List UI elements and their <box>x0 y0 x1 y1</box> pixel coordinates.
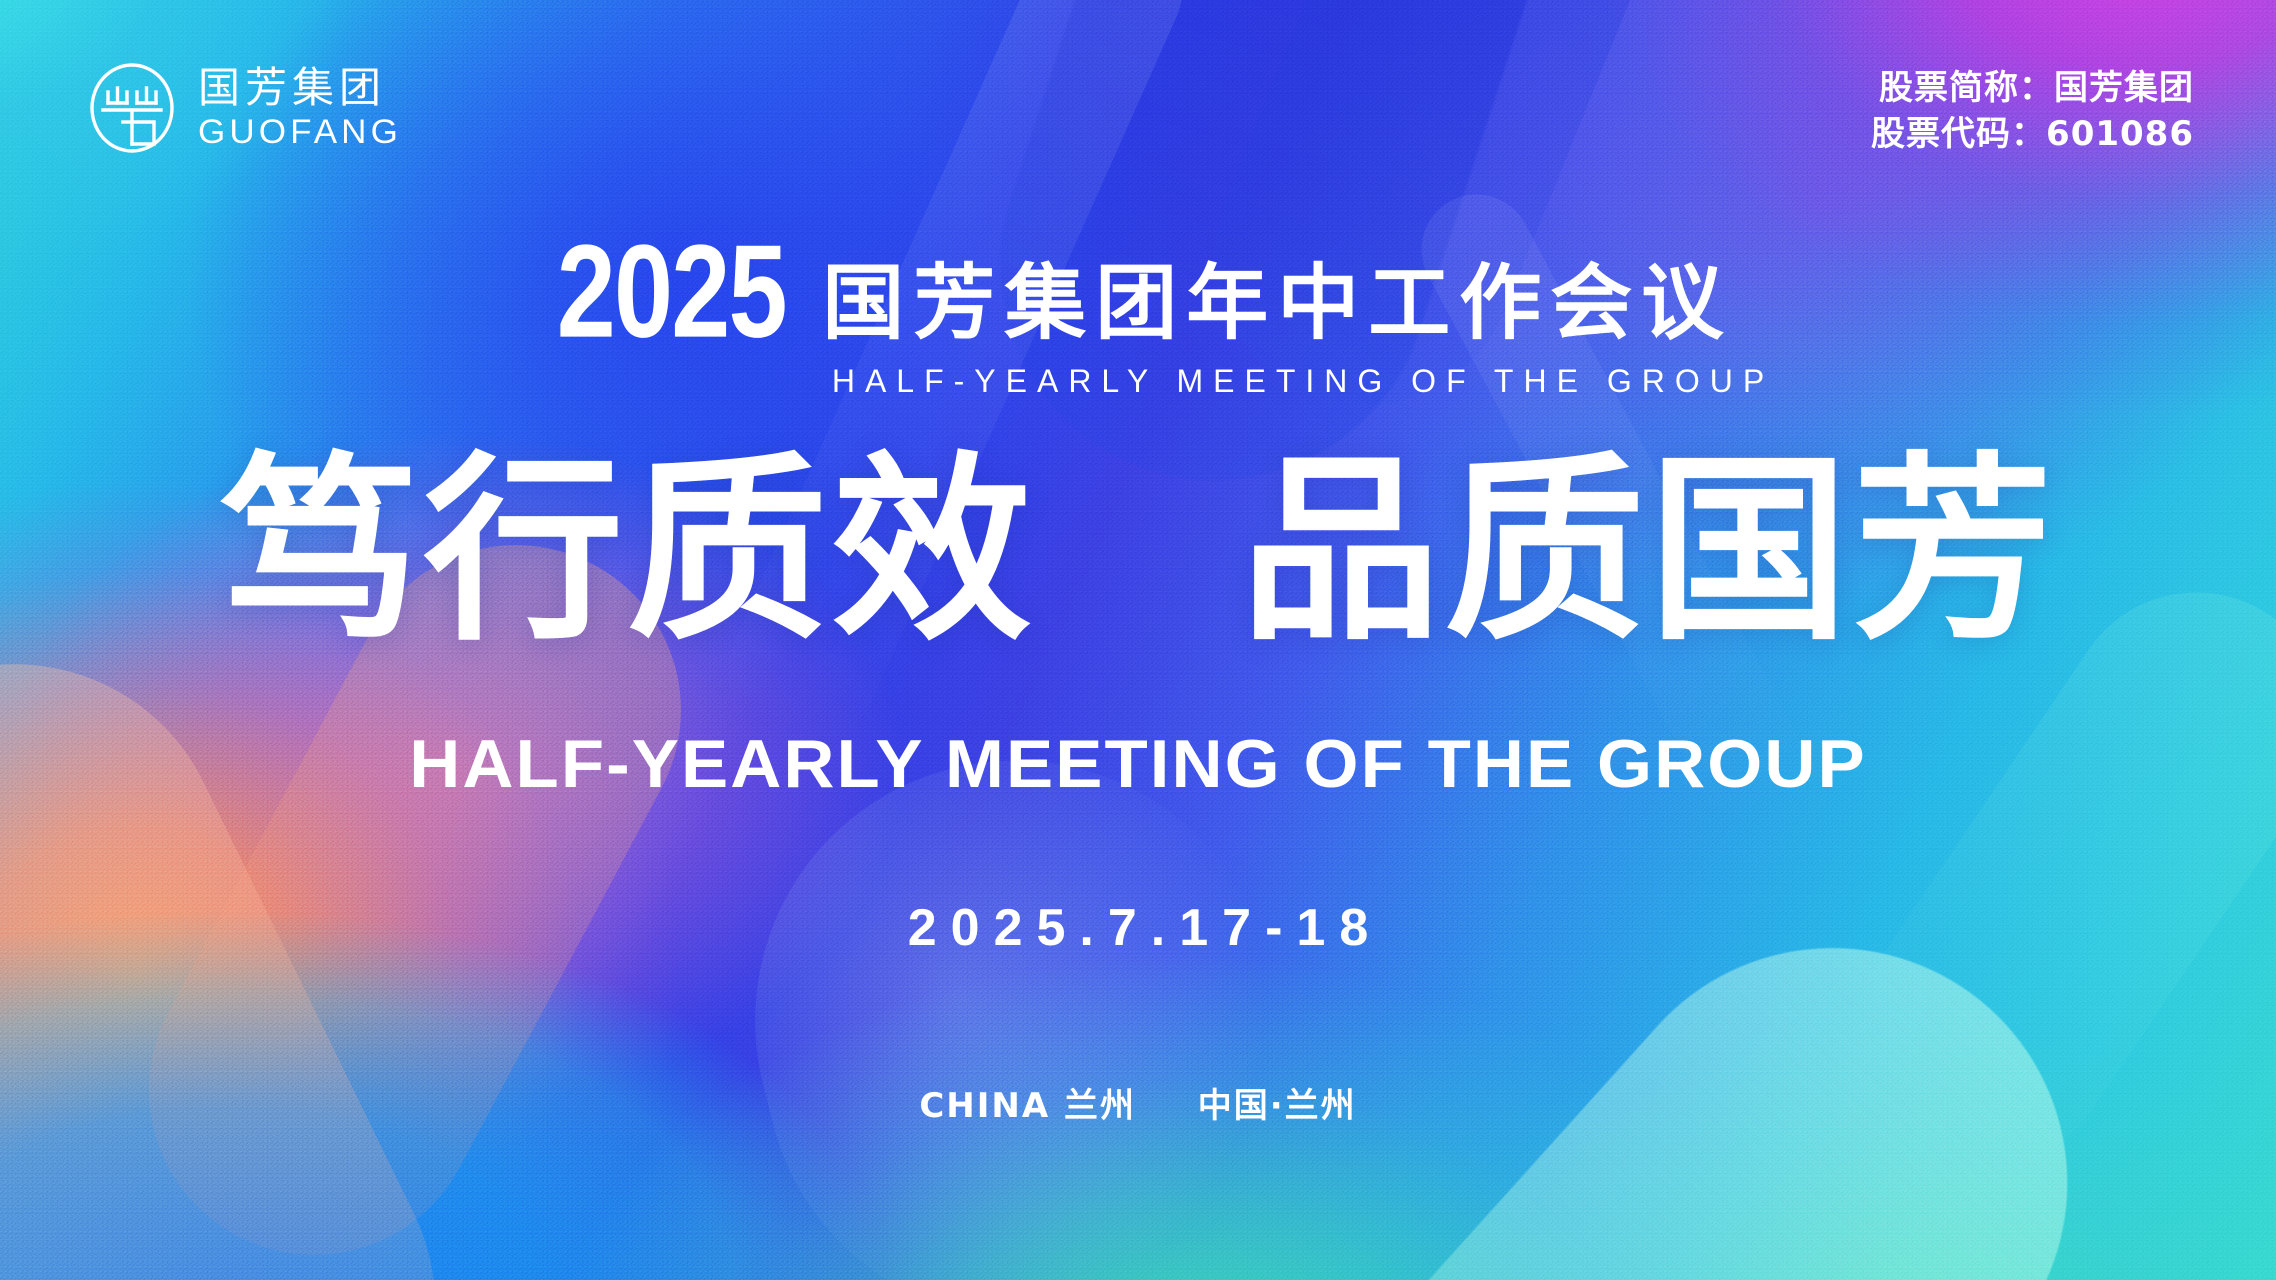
stock-code-line: 股票代码：601086 <box>1871 112 2194 158</box>
headline-cn-part2: 品质国芳 <box>1241 435 2057 668</box>
event-date: 2025.7.17-18 <box>0 898 2276 958</box>
headline-cn: 笃行质效 品质国芳 <box>0 452 2276 652</box>
event-location-cn: 中国·兰州 <box>1198 1086 1357 1126</box>
event-title-en: HALF-YEARLY MEETING OF THE GROUP <box>0 363 2276 400</box>
event-title-row: 2025 国芳集团年中工作会议 <box>0 248 2276 349</box>
event-location-en: CHINA 兰州 <box>919 1086 1136 1126</box>
event-title-cn: 国芳集团年中工作会议 <box>822 263 1732 349</box>
event-year: 2025 <box>556 236 785 350</box>
poster-content: 国芳集团 GUOFANG 股票简称：国芳集团 股票代码：601086 2025 … <box>0 0 2276 1280</box>
event-title-band: 2025 国芳集团年中工作会议 HALF-YEARLY MEETING OF T… <box>0 248 2276 400</box>
headline-en: HALF-YEARLY MEETING OF THE GROUP <box>0 725 2276 803</box>
conference-poster: 国芳集团 GUOFANG 股票简称：国芳集团 股票代码：601086 2025 … <box>0 0 2276 1280</box>
event-location: CHINA 兰州 中国·兰州 <box>0 1078 2276 1127</box>
brand-logo: 国芳集团 GUOFANG <box>88 62 396 154</box>
stock-name-line: 股票简称：国芳集团 <box>1871 66 2194 112</box>
brand-name-en: GUOFANG <box>198 115 402 149</box>
headline-cn-part1: 笃行质效 <box>219 435 1035 668</box>
brand-logo-text: 国芳集团 GUOFANG <box>198 67 396 149</box>
brand-name-cn: 国芳集团 <box>198 67 396 109</box>
stock-info: 股票简称：国芳集团 股票代码：601086 <box>1871 66 2194 158</box>
guofang-circle-emblem-icon <box>88 62 176 154</box>
